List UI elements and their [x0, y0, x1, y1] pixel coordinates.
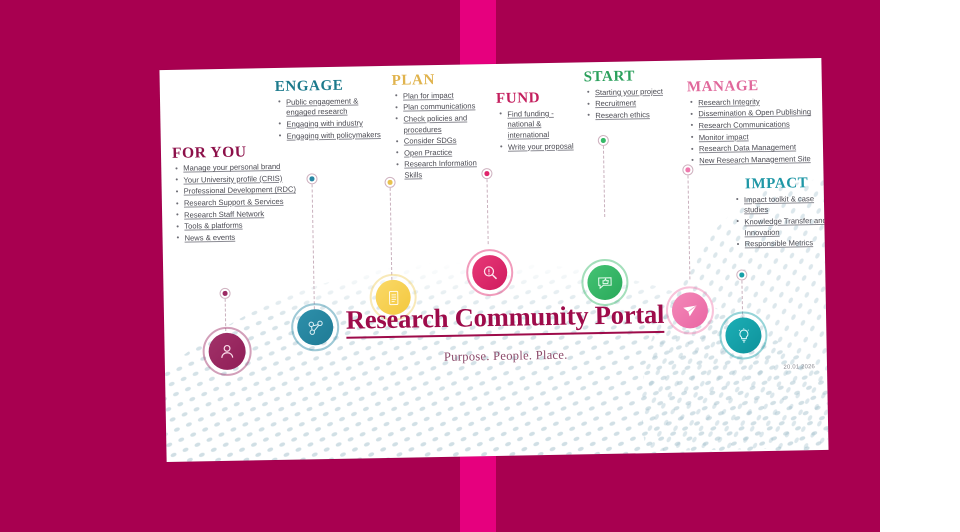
node-dot-engage — [306, 173, 317, 184]
list-item[interactable]: Find funding - national & international — [507, 108, 579, 141]
link-list-plan: Plan for impact Plan communications Chec… — [392, 90, 494, 182]
badge-for-you[interactable] — [208, 333, 246, 371]
list-item[interactable]: Research Information Skills — [404, 158, 493, 181]
column-heading-plan: PLAN — [392, 72, 492, 90]
list-item[interactable]: Research Support & Services — [184, 197, 297, 210]
magnifier-icon — [480, 262, 500, 282]
list-item[interactable]: Engaging with policymakers — [287, 130, 382, 142]
list-item[interactable]: New Research Management Site — [699, 154, 828, 167]
lightbulb-idea-icon — [734, 326, 753, 345]
list-item[interactable]: Knowledge Transfer and Innovation — [744, 216, 827, 239]
slide-canvas: FOR YOU Manage your personal brand Your … — [159, 58, 828, 462]
list-item[interactable]: Your University profile (CRIS) — [183, 173, 296, 186]
link-list-for-you: Manage your personal brand Your Universi… — [172, 162, 297, 244]
badge-fund[interactable] — [472, 255, 508, 291]
connector-fund — [486, 174, 488, 244]
column-fund: FUND Find funding - national & internati… — [496, 90, 579, 154]
background-white-margin — [880, 0, 960, 532]
list-item[interactable]: Consider SDGs — [404, 135, 493, 147]
list-item[interactable]: Manage your personal brand — [183, 162, 296, 175]
link-list-impact: Impact toolkit & case studies Knowledge … — [727, 194, 828, 251]
link-list-manage: Research Integrity Dissemination & Open … — [687, 96, 828, 167]
link-list-fund: Find funding - national & international … — [496, 108, 579, 153]
date-stamp: 20.01.2026 — [783, 364, 815, 371]
title-block: Research Community Portal Purpose. Peopl… — [295, 298, 716, 368]
column-engage: ENGAGE Public engagement & engaged resea… — [275, 78, 382, 143]
connector-start — [603, 141, 605, 217]
list-item[interactable]: Impact toolkit & case studies — [744, 194, 827, 217]
column-manage: MANAGE Research Integrity Dissemination … — [687, 78, 829, 168]
link-list-start: Starting your project Recruitment Resear… — [584, 86, 683, 122]
list-item[interactable]: Public engagement & engaged research — [286, 96, 381, 119]
column-plan: PLAN Plan for impact Plan communications… — [392, 72, 494, 182]
checklist-icon — [384, 288, 402, 306]
list-item[interactable]: Research ethics — [595, 109, 682, 121]
list-item[interactable]: Starting your project — [595, 86, 682, 98]
user-icon — [217, 342, 236, 361]
paper-plane-icon — [680, 300, 700, 320]
list-item[interactable]: Write your proposal — [508, 141, 579, 153]
badge-impact[interactable] — [725, 317, 762, 354]
network-people-icon — [305, 317, 326, 338]
list-item[interactable]: Open Practice — [404, 147, 493, 159]
node-dot-start — [598, 135, 609, 146]
list-item[interactable]: Check policies and procedures — [403, 113, 492, 136]
list-item[interactable]: Plan communications — [403, 101, 492, 113]
column-heading-impact: IMPACT — [727, 176, 827, 194]
badge-start[interactable] — [587, 265, 623, 301]
column-heading-engage: ENGAGE — [275, 78, 381, 96]
column-for-you: FOR YOU Manage your personal brand Your … — [172, 144, 298, 246]
list-item[interactable]: News & events — [184, 231, 297, 244]
thumbs-up-bubble-icon — [595, 273, 614, 292]
column-impact: IMPACT Impact toolkit & case studies Kno… — [727, 176, 828, 252]
column-heading-for-you: FOR YOU — [172, 144, 296, 163]
link-list-engage: Public engagement & engaged research Eng… — [275, 96, 382, 142]
list-item[interactable]: Responsible Metrics — [745, 238, 828, 250]
list-item[interactable]: Engaging with industry — [286, 118, 381, 130]
column-start: START Starting your project Recruitment … — [584, 69, 683, 123]
list-item[interactable]: Tools & platforms — [184, 220, 297, 233]
list-item[interactable]: Plan for impact — [403, 90, 492, 102]
column-heading-start: START — [584, 69, 682, 87]
list-item[interactable]: Professional Development (RDC) — [184, 185, 297, 198]
column-heading-fund: FUND — [496, 90, 578, 107]
list-item[interactable]: Research Staff Network — [184, 208, 297, 221]
list-item[interactable]: Recruitment — [595, 98, 682, 110]
column-heading-manage: MANAGE — [687, 78, 827, 96]
